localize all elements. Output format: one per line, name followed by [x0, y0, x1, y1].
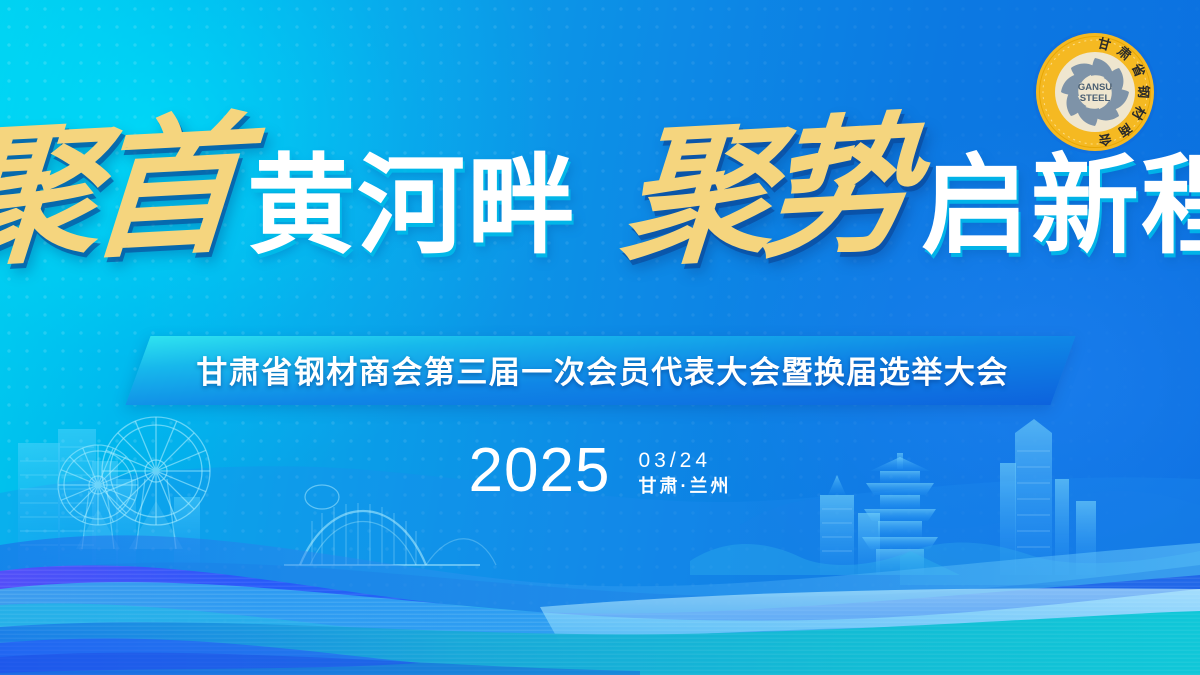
subtitle-banner: 甘肃省钢材商会第三届一次会员代表大会暨换届选举大会	[125, 336, 1075, 405]
event-poster: GANSU STEEL 甘肃省钢材商会 聚首 黄河畔 聚势 启新程 甘肃省钢材商…	[0, 0, 1200, 675]
headline: 聚首 黄河畔 聚势 启新程	[0, 92, 1200, 297]
subtitle-text: 甘肃省钢材商会第三届一次会员代表大会暨换届选举大会	[196, 347, 1009, 392]
subtitle-banner-wrap: 甘肃省钢材商会第三届一次会员代表大会暨换届选举大会	[0, 336, 1200, 405]
headline-kai-2: 启新程	[921, 154, 1200, 262]
headline-group-1: 聚首 黄河畔	[0, 121, 577, 268]
headline-brush-1: 聚首	[0, 114, 243, 276]
headline-kai-1: 黄河畔	[247, 154, 577, 262]
event-year: 2025	[469, 440, 611, 502]
headline-group-2: 聚势 启新程	[623, 121, 1200, 268]
event-month-day: 03/24	[638, 448, 731, 475]
event-location: 甘肃·兰州	[638, 475, 731, 498]
headline-brush-2: 聚势	[617, 114, 917, 276]
date-block: 2025 03/24 甘肃·兰州	[0, 440, 1200, 502]
city-scenery	[0, 375, 1200, 675]
